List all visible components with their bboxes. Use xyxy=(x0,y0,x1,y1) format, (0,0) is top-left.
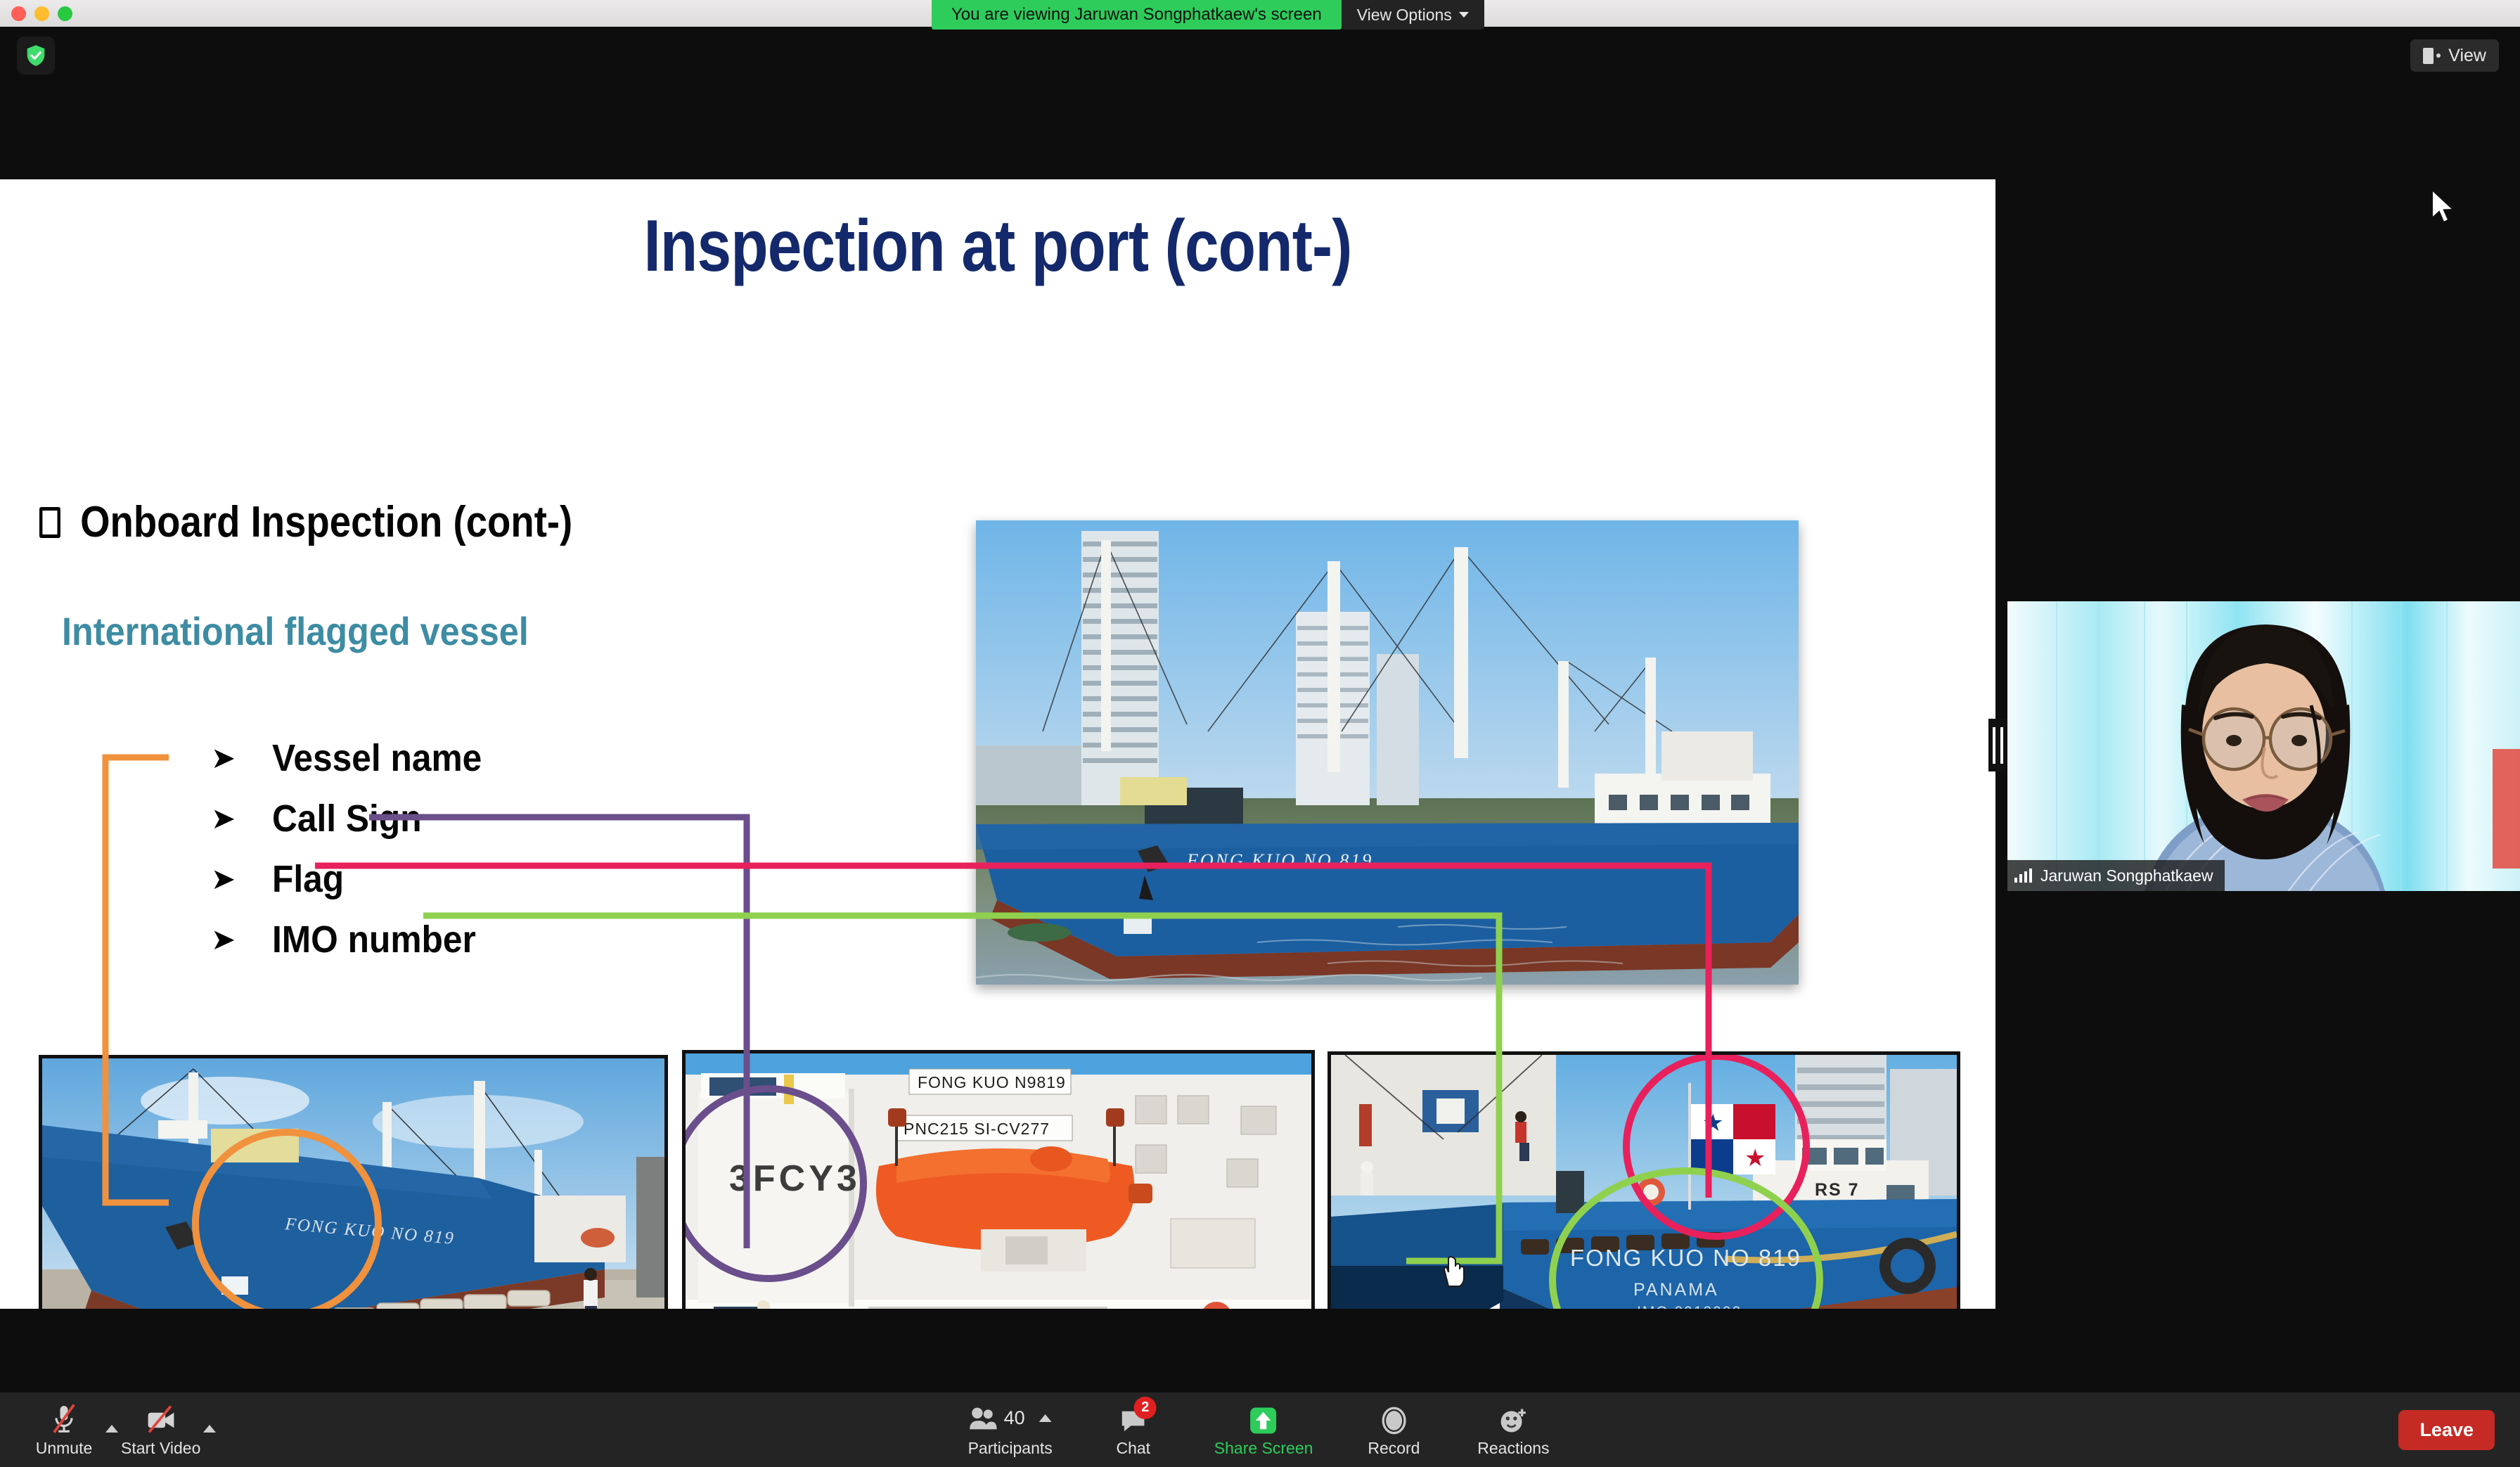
minimize-window-button[interactable] xyxy=(34,6,49,21)
unmute-label: Unmute xyxy=(36,1439,93,1458)
svg-text:FONG KUO NO 819: FONG KUO NO 819 xyxy=(1186,850,1373,871)
shield-check-icon xyxy=(25,44,46,67)
reactions-label: Reactions xyxy=(1477,1439,1549,1458)
smiley-plus-icon xyxy=(1498,1402,1528,1435)
mouse-cursor xyxy=(2429,188,2457,225)
record-button[interactable]: Record xyxy=(1355,1402,1432,1458)
arrow-bullet-icon: ➤ xyxy=(211,804,236,833)
chat-label: Chat xyxy=(1116,1439,1150,1458)
camera-off-icon xyxy=(145,1402,177,1435)
start-video-label: Start Video xyxy=(121,1439,200,1458)
hand-cursor xyxy=(1441,1255,1465,1288)
video-options-button[interactable] xyxy=(203,1414,216,1446)
meeting-toolbar: Unmute Start Video xyxy=(0,1392,2520,1467)
svg-text:RS 7: RS 7 xyxy=(1815,1180,1860,1200)
chevron-up-icon xyxy=(203,1425,216,1433)
chevron-up-icon xyxy=(105,1425,118,1433)
svg-text:PNC215 SI-CV277: PNC215 SI-CV277 xyxy=(904,1120,1050,1138)
checkbox-bullet-icon xyxy=(39,507,60,538)
arrow-bullet-icon: ➤ xyxy=(211,925,236,954)
view-layout-button[interactable]: View xyxy=(2410,39,2499,72)
start-video-button[interactable]: Start Video xyxy=(121,1402,200,1458)
share-banner-message: You are viewing Jaruwan Songphatkaew's s… xyxy=(932,0,1342,30)
flag-imo-photo: RS 7 ★ ★ xyxy=(1327,1051,1960,1309)
bullet-list: ➤ Vessel name ➤ Call Sign ➤ Flag ➤ IMO n… xyxy=(211,728,500,970)
participant-name-text: Jaruwan Songphatkaew xyxy=(2040,866,2213,885)
layout-view-icon xyxy=(2423,48,2441,64)
toolbar-left-group: Unmute Start Video xyxy=(25,1402,216,1458)
participants-button[interactable]: 40 Participants xyxy=(968,1402,1053,1458)
people-icon: 40 xyxy=(969,1402,1052,1435)
unmute-button[interactable]: Unmute xyxy=(25,1402,103,1458)
list-item: ➤ Vessel name xyxy=(211,728,500,788)
bullet-label-flag: Flag xyxy=(272,857,344,901)
slide-subheading: International flagged vessel xyxy=(62,608,529,654)
main-vessel-photo: FONG KUO NO 819 xyxy=(976,520,1799,985)
list-item: ➤ IMO number xyxy=(211,909,500,970)
participant-video-tile[interactable]: Jaruwan Songphatkaew xyxy=(2007,601,2520,891)
screen-share-banner: You are viewing Jaruwan Songphatkaew's s… xyxy=(932,0,1484,30)
share-up-arrow-icon xyxy=(1249,1402,1278,1435)
toolbar-center-group: 40 Participants 2 Chat xyxy=(968,1402,1552,1458)
encryption-shield-button[interactable] xyxy=(17,37,55,75)
audio-options-button[interactable] xyxy=(105,1414,118,1446)
list-item: ➤ Call Sign xyxy=(211,788,500,849)
record-circle-icon xyxy=(1380,1402,1408,1435)
svg-text:3FCY3: 3FCY3 xyxy=(729,1158,861,1199)
bullet-label-imo-number: IMO number xyxy=(272,918,476,961)
chat-button[interactable]: 2 Chat xyxy=(1095,1402,1172,1458)
zoom-window-button[interactable] xyxy=(58,6,72,21)
svg-text:IMO 8913992: IMO 8913992 xyxy=(1637,1304,1742,1309)
record-label: Record xyxy=(1368,1439,1420,1458)
signal-bars-icon xyxy=(2014,869,2032,883)
svg-text:FONG KUO N9819: FONG KUO N9819 xyxy=(918,1073,1066,1091)
vessel-name-photo: FONG KUO NO 819 xyxy=(39,1055,668,1309)
view-button-label: View xyxy=(2448,46,2486,66)
chevron-up-icon xyxy=(1039,1414,1052,1422)
arrow-bullet-icon: ➤ xyxy=(211,864,236,894)
slide-title: Inspection at port (cont-) xyxy=(160,205,1836,288)
participant-name-label: Jaruwan Songphatkaew xyxy=(2007,860,2225,891)
chat-bubble-icon: 2 xyxy=(1120,1402,1147,1435)
chat-unread-badge: 2 xyxy=(1134,1397,1157,1419)
participants-count: 40 xyxy=(1004,1407,1025,1429)
svg-text:PANAMA: PANAMA xyxy=(1633,1280,1719,1300)
participants-label: Participants xyxy=(968,1439,1053,1458)
chevron-down-icon xyxy=(1459,12,1469,18)
list-item: ➤ Flag xyxy=(211,849,500,909)
leave-button[interactable]: Leave xyxy=(2398,1410,2495,1450)
shared-slide: Inspection at port (cont-) Onboard Inspe… xyxy=(0,179,1995,1309)
view-options-label: View Options xyxy=(1357,6,1452,25)
call-sign-photo: FONG KUO N9819 PNC215 SI-CV277 3FCY3 xyxy=(682,1050,1315,1309)
slide-heading-text: Onboard Inspection (cont-) xyxy=(80,497,572,547)
view-options-button[interactable]: View Options xyxy=(1342,0,1484,30)
zoom-meeting-window: You are viewing Jaruwan Songphatkaew's s… xyxy=(0,0,2520,1467)
microphone-muted-icon xyxy=(49,1402,79,1435)
svg-text:FONG KUO NO 819: FONG KUO NO 819 xyxy=(1570,1245,1801,1271)
bullet-label-vessel-name: Vessel name xyxy=(272,736,482,780)
traffic-lights xyxy=(11,6,72,21)
svg-text:★: ★ xyxy=(1702,1110,1723,1136)
bullet-label-call-sign: Call Sign xyxy=(272,797,422,840)
share-screen-label: Share Screen xyxy=(1214,1439,1313,1458)
share-screen-button[interactable]: Share Screen xyxy=(1214,1402,1313,1458)
video-panel-drag-handle[interactable] xyxy=(1988,719,2007,771)
reactions-button[interactable]: Reactions xyxy=(1474,1402,1552,1458)
slide-heading: Onboard Inspection (cont-) xyxy=(39,497,572,547)
svg-text:★: ★ xyxy=(1744,1145,1766,1172)
close-window-button[interactable] xyxy=(11,6,26,21)
arrow-bullet-icon: ➤ xyxy=(211,743,236,773)
